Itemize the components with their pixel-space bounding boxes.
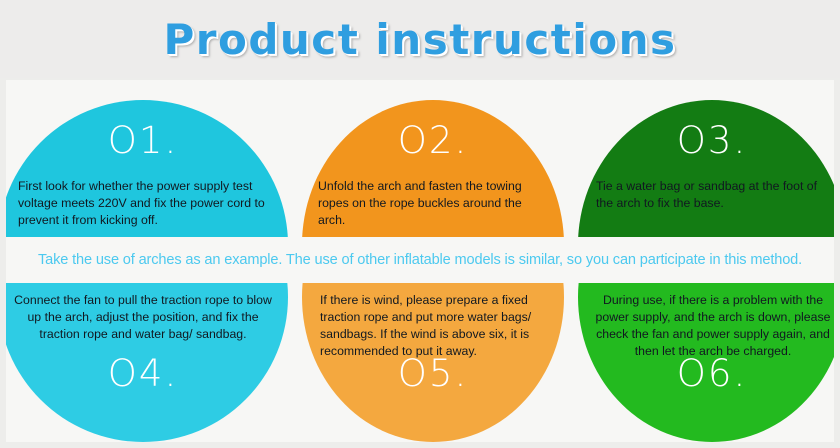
step-bubble-6: During use, if there is a problem with t…	[578, 283, 834, 442]
steps-row-bottom: Connect the fan to pull the traction rop…	[6, 283, 834, 442]
page-header: Product instructions	[0, 0, 840, 78]
step-bubble-5: If there is wind, please prepare a fixed…	[302, 283, 564, 442]
banner-text: Take the use of arches as an example. Th…	[38, 252, 802, 268]
step-number-4: O4.	[6, 355, 288, 392]
step-number-6: O6.	[578, 355, 834, 392]
instructions-panel: O1. First look for whether the power sup…	[6, 80, 834, 442]
step-number-2: O2.	[302, 122, 564, 159]
step-number-5: O5.	[302, 355, 564, 392]
step-text-5: If there is wind, please prepare a fixed…	[302, 292, 564, 360]
step-text-1: First look for whether the power supply …	[6, 178, 288, 229]
page-title: Product instructions	[163, 15, 676, 64]
step-number-1: O1.	[6, 122, 288, 159]
step-text-6: During use, if there is a problem with t…	[578, 292, 834, 360]
step-bubble-1: O1. First look for whether the power sup…	[6, 100, 288, 237]
step-bubble-4: Connect the fan to pull the traction rop…	[6, 283, 288, 442]
step-bubble-3: O3. Tie a water bag or sandbag at the fo…	[578, 100, 834, 237]
step-text-3: Tie a water bag or sandbag at the foot o…	[578, 178, 834, 212]
step-text-2: Unfold the arch and fasten the towing ro…	[302, 178, 564, 229]
step-bubble-2: O2. Unfold the arch and fasten the towin…	[302, 100, 564, 237]
steps-row-top: O1. First look for whether the power sup…	[6, 80, 834, 237]
step-number-3: O3.	[578, 122, 834, 159]
banner: Take the use of arches as an example. Th…	[6, 237, 834, 283]
step-text-4: Connect the fan to pull the traction rop…	[6, 292, 288, 343]
